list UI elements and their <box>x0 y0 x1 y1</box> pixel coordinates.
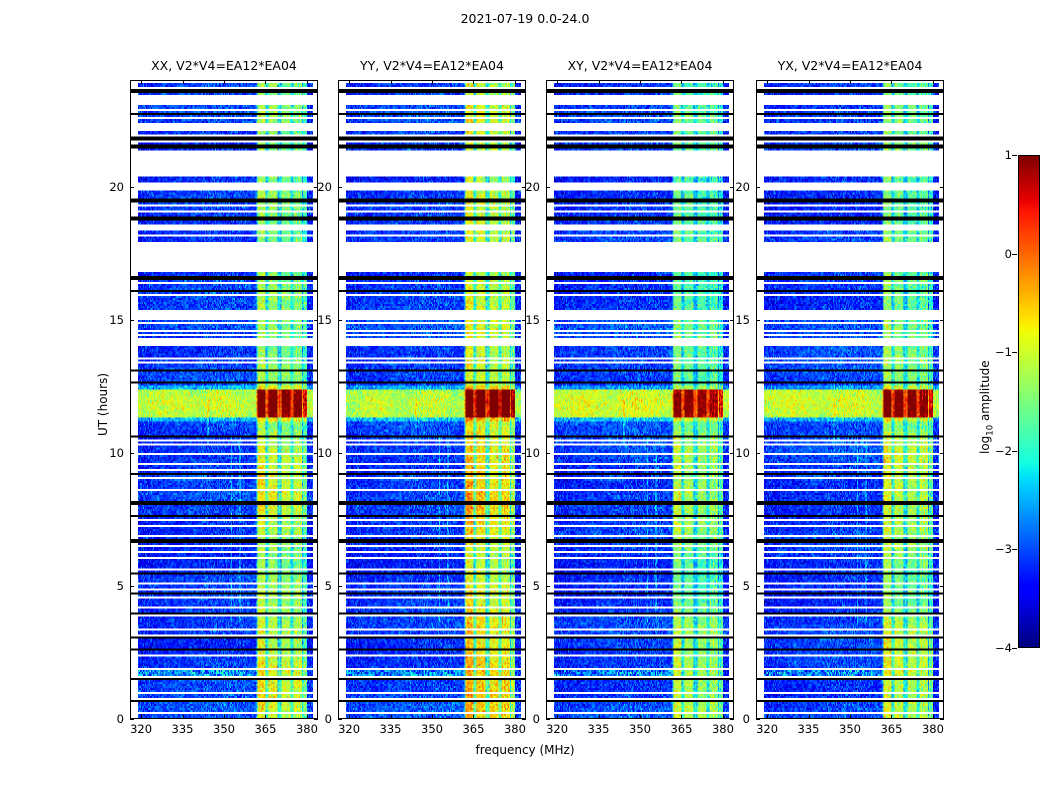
y-tick-label: 5 <box>94 579 124 593</box>
y-tick-label: 0 <box>302 712 332 726</box>
y-tick-mark <box>546 320 550 321</box>
colorbar-tick-label: −3 <box>988 542 1012 556</box>
y-tick-label: 5 <box>720 579 750 593</box>
x-tick-label: 350 <box>421 722 443 736</box>
figure-suptitle: 2021-07-19 0.0-24.0 <box>0 11 1050 26</box>
y-tick-mark <box>338 320 342 321</box>
x-tick-mark <box>557 80 558 84</box>
x-tick-label: 320 <box>130 722 152 736</box>
x-tick-mark <box>224 80 225 84</box>
x-tick-mark <box>640 80 641 84</box>
colorbar-tick-label: −1 <box>988 345 1012 359</box>
x-tick-label: 335 <box>172 722 194 736</box>
x-tick-mark <box>141 80 142 84</box>
y-tick-label: 10 <box>720 446 750 460</box>
y-tick-mark <box>130 453 134 454</box>
y-tick-mark <box>546 586 550 587</box>
x-tick-mark <box>640 715 641 719</box>
y-tick-mark <box>940 586 944 587</box>
x-tick-mark <box>141 715 142 719</box>
y-tick-label: 20 <box>94 180 124 194</box>
y-axis-label: UT (hours) <box>96 372 110 435</box>
y-tick-label: 10 <box>510 446 540 460</box>
y-tick-mark <box>940 453 944 454</box>
y-tick-mark <box>130 719 134 720</box>
y-tick-mark <box>756 320 760 321</box>
spectrogram-panel-yx[interactable] <box>756 80 944 719</box>
x-tick-label: 365 <box>670 722 692 736</box>
y-tick-label: 15 <box>720 313 750 327</box>
x-tick-mark <box>183 80 184 84</box>
x-tick-mark <box>850 80 851 84</box>
y-tick-label: 5 <box>510 579 540 593</box>
x-tick-label: 320 <box>338 722 360 736</box>
x-tick-mark <box>183 715 184 719</box>
x-tick-mark <box>723 80 724 84</box>
colorbar-tick-mark <box>1012 648 1017 649</box>
colorbar-tick-label: −4 <box>988 641 1012 655</box>
colorbar-tick-label: 1 <box>988 148 1012 162</box>
colorbar-label: log10 amplitude <box>978 360 995 454</box>
spectrogram-image-yx <box>757 81 943 718</box>
x-tick-mark <box>850 715 851 719</box>
spectrogram-image-xx <box>131 81 317 718</box>
x-tick-mark <box>599 715 600 719</box>
spectrogram-image-xy <box>547 81 733 718</box>
panel-canvas-wrap-yy <box>339 81 525 718</box>
y-tick-mark <box>756 187 760 188</box>
x-tick-mark <box>891 80 892 84</box>
x-tick-label: 350 <box>629 722 651 736</box>
y-tick-mark <box>546 453 550 454</box>
x-tick-mark <box>809 715 810 719</box>
y-tick-mark <box>756 586 760 587</box>
colorbar-gradient <box>1019 156 1039 647</box>
colorbar-tick-label: 0 <box>988 247 1012 261</box>
y-tick-label: 5 <box>302 579 332 593</box>
x-tick-mark <box>809 80 810 84</box>
x-tick-mark <box>432 80 433 84</box>
x-tick-mark <box>515 80 516 84</box>
x-tick-label: 365 <box>462 722 484 736</box>
x-tick-mark <box>557 715 558 719</box>
x-tick-mark <box>599 80 600 84</box>
x-tick-mark <box>349 80 350 84</box>
x-tick-mark <box>473 715 474 719</box>
y-tick-label: 20 <box>510 180 540 194</box>
x-tick-mark <box>891 715 892 719</box>
colorbar[interactable] <box>1018 155 1040 648</box>
colorbar-tick-mark <box>1012 254 1017 255</box>
x-tick-label: 335 <box>588 722 610 736</box>
x-tick-mark <box>933 715 934 719</box>
x-tick-mark <box>933 80 934 84</box>
y-tick-mark <box>756 719 760 720</box>
y-tick-mark <box>130 320 134 321</box>
y-tick-label: 0 <box>720 712 750 726</box>
y-tick-mark <box>338 719 342 720</box>
y-tick-mark <box>338 453 342 454</box>
y-tick-mark <box>546 187 550 188</box>
panel-title-xy: XY, V2*V4=EA12*EA04 <box>546 58 734 73</box>
x-tick-mark <box>473 80 474 84</box>
x-tick-mark <box>767 715 768 719</box>
spectrogram-panel-xy[interactable] <box>546 80 734 719</box>
y-tick-mark <box>756 453 760 454</box>
colorbar-tick-mark <box>1012 155 1017 156</box>
y-tick-label: 10 <box>94 446 124 460</box>
y-tick-mark <box>940 187 944 188</box>
x-tick-mark <box>391 715 392 719</box>
y-tick-label: 10 <box>302 446 332 460</box>
y-tick-mark <box>338 586 342 587</box>
x-tick-mark <box>432 715 433 719</box>
x-tick-label: 350 <box>839 722 861 736</box>
y-tick-mark <box>130 187 134 188</box>
panel-title-xx: XX, V2*V4=EA12*EA04 <box>130 58 318 73</box>
x-tick-mark <box>767 80 768 84</box>
panel-canvas-wrap-yx <box>757 81 943 718</box>
y-tick-mark <box>940 719 944 720</box>
panel-canvas-wrap-xy <box>547 81 733 718</box>
y-tick-mark <box>546 719 550 720</box>
y-tick-mark <box>338 187 342 188</box>
x-tick-label: 320 <box>546 722 568 736</box>
panel-title-yy: YY, V2*V4=EA12*EA04 <box>338 58 526 73</box>
x-tick-label: 320 <box>756 722 778 736</box>
y-tick-label: 15 <box>302 313 332 327</box>
y-tick-label: 20 <box>302 180 332 194</box>
x-tick-mark <box>265 80 266 84</box>
y-tick-label: 15 <box>94 313 124 327</box>
y-tick-label: 0 <box>94 712 124 726</box>
x-tick-mark <box>307 80 308 84</box>
x-tick-label: 335 <box>380 722 402 736</box>
y-tick-label: 0 <box>510 712 540 726</box>
x-tick-mark <box>391 80 392 84</box>
colorbar-tick-mark <box>1012 352 1017 353</box>
y-tick-label: 15 <box>510 313 540 327</box>
x-tick-mark <box>265 715 266 719</box>
y-tick-mark <box>130 586 134 587</box>
colorbar-tick-mark <box>1012 451 1017 452</box>
colorbar-tick-mark <box>1012 549 1017 550</box>
y-tick-mark <box>940 320 944 321</box>
x-tick-mark <box>224 715 225 719</box>
x-tick-label: 335 <box>798 722 820 736</box>
x-tick-mark <box>681 715 682 719</box>
x-tick-label: 365 <box>880 722 902 736</box>
x-tick-label: 350 <box>213 722 235 736</box>
x-tick-label: 380 <box>922 722 944 736</box>
y-tick-label: 20 <box>720 180 750 194</box>
x-axis-label: frequency (MHz) <box>0 743 1050 757</box>
x-tick-mark <box>681 80 682 84</box>
spectrogram-image-yy <box>339 81 525 718</box>
x-tick-mark <box>349 715 350 719</box>
panel-canvas-wrap-xx <box>131 81 317 718</box>
panel-title-yx: YX, V2*V4=EA12*EA04 <box>756 58 944 73</box>
spectrogram-panel-xx[interactable] <box>130 80 318 719</box>
spectrogram-panel-yy[interactable] <box>338 80 526 719</box>
x-tick-label: 365 <box>254 722 276 736</box>
